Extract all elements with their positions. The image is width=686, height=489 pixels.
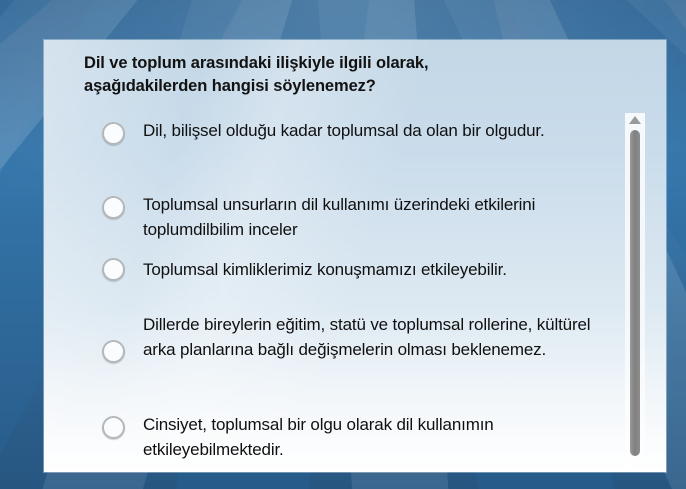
option-label-4: Dillerde bireylerin eğitim, statü ve top… (143, 312, 602, 362)
radio-button-2[interactable] (102, 196, 125, 219)
option-row-4[interactable]: Dillerde bireylerin eğitim, statü ve top… (102, 312, 602, 363)
scrollbar-thumb[interactable] (630, 130, 640, 456)
option-row-1[interactable]: Dil, bilişsel olduğu kadar toplumsal da … (102, 118, 602, 145)
radio-button-4[interactable] (102, 340, 125, 363)
option-label-5: Cinsiyet, toplumsal bir olgu olarak dil … (143, 412, 602, 462)
radio-button-1[interactable] (102, 122, 125, 145)
option-row-3[interactable]: Toplumsal kimliklerimiz konuşmamızı etki… (102, 257, 602, 282)
vertical-scrollbar[interactable] (625, 113, 645, 472)
option-row-5[interactable]: Cinsiyet, toplumsal bir olgu olarak dil … (102, 412, 602, 462)
quiz-screen: Dil ve toplum arasındaki ilişkiyle ilgil… (0, 0, 686, 489)
option-label-2: Toplumsal unsurların dil kullanımı üzeri… (143, 192, 602, 242)
radio-button-5[interactable] (102, 416, 125, 439)
option-label-3: Toplumsal kimliklerimiz konuşmamızı etki… (143, 257, 507, 282)
options-list: Dil, bilişsel olduğu kadar toplumsal da … (44, 118, 666, 472)
question-line-2: aşağıdakilerden hangisi söylenemez? (84, 75, 584, 98)
question-line-1: Dil ve toplum arasındaki ilişkiyle ilgil… (84, 54, 429, 72)
triangle-up-icon[interactable] (625, 113, 645, 128)
option-label-1: Dil, bilişsel olduğu kadar toplumsal da … (143, 118, 545, 143)
question-text: Dil ve toplum arasındaki ilişkiyle ilgil… (84, 52, 584, 98)
option-row-2[interactable]: Toplumsal unsurların dil kullanımı üzeri… (102, 192, 602, 242)
question-panel: Dil ve toplum arasındaki ilişkiyle ilgil… (44, 40, 666, 472)
radio-button-3[interactable] (102, 258, 125, 281)
